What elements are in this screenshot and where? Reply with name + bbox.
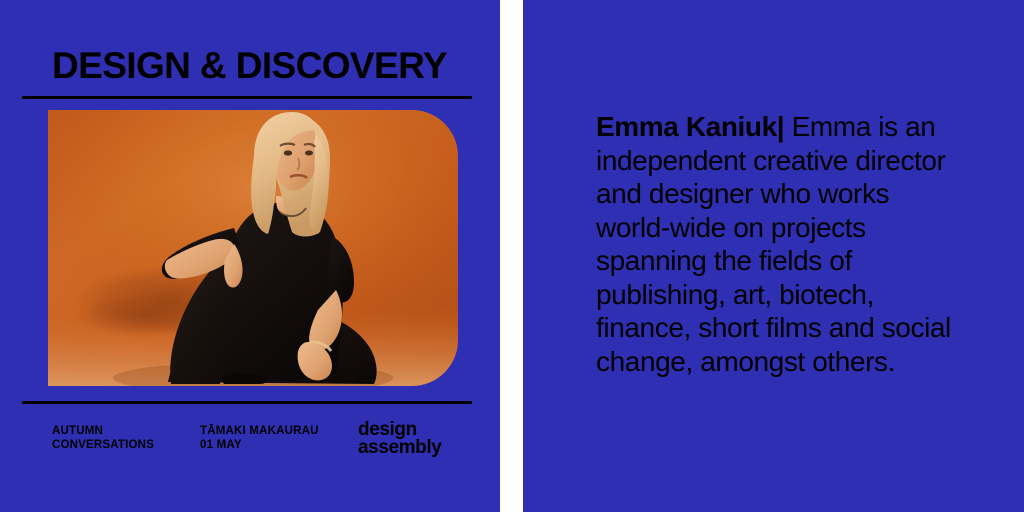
right-panel: Emma Kaniuk| Emma is an independent crea…: [523, 0, 1024, 512]
design-assembly-logo[interactable]: design assembly: [358, 421, 441, 457]
presentation-slide: DESIGN & DISCOVERY: [0, 0, 1024, 512]
speaker-bio: Emma Kaniuk| Emma is an independent crea…: [596, 110, 962, 378]
footer: AUTUMN CONVERSATIONS TĀMAKI MAKAURAU 01 …: [52, 425, 472, 465]
bio-description: Emma is an independent creative director…: [596, 111, 951, 377]
footer-location-date: TĀMAKI MAKAURAU 01 MAY: [200, 425, 319, 452]
portrait-photo: [48, 110, 458, 386]
footer-location: TĀMAKI MAKAURAU: [200, 425, 319, 439]
divider-top: [22, 96, 472, 99]
footer-series-line-1: AUTUMN: [52, 425, 154, 439]
logo-line-assembly: assembly: [358, 439, 441, 457]
footer-series-line-2: CONVERSATIONS: [52, 439, 154, 453]
divider-bottom: [22, 401, 472, 404]
speaker-name: Emma Kaniuk: [596, 111, 777, 142]
page-title: DESIGN & DISCOVERY: [52, 44, 447, 88]
left-panel: DESIGN & DISCOVERY: [0, 0, 500, 512]
footer-series: AUTUMN CONVERSATIONS: [52, 425, 154, 452]
footer-date: 01 MAY: [200, 439, 319, 453]
